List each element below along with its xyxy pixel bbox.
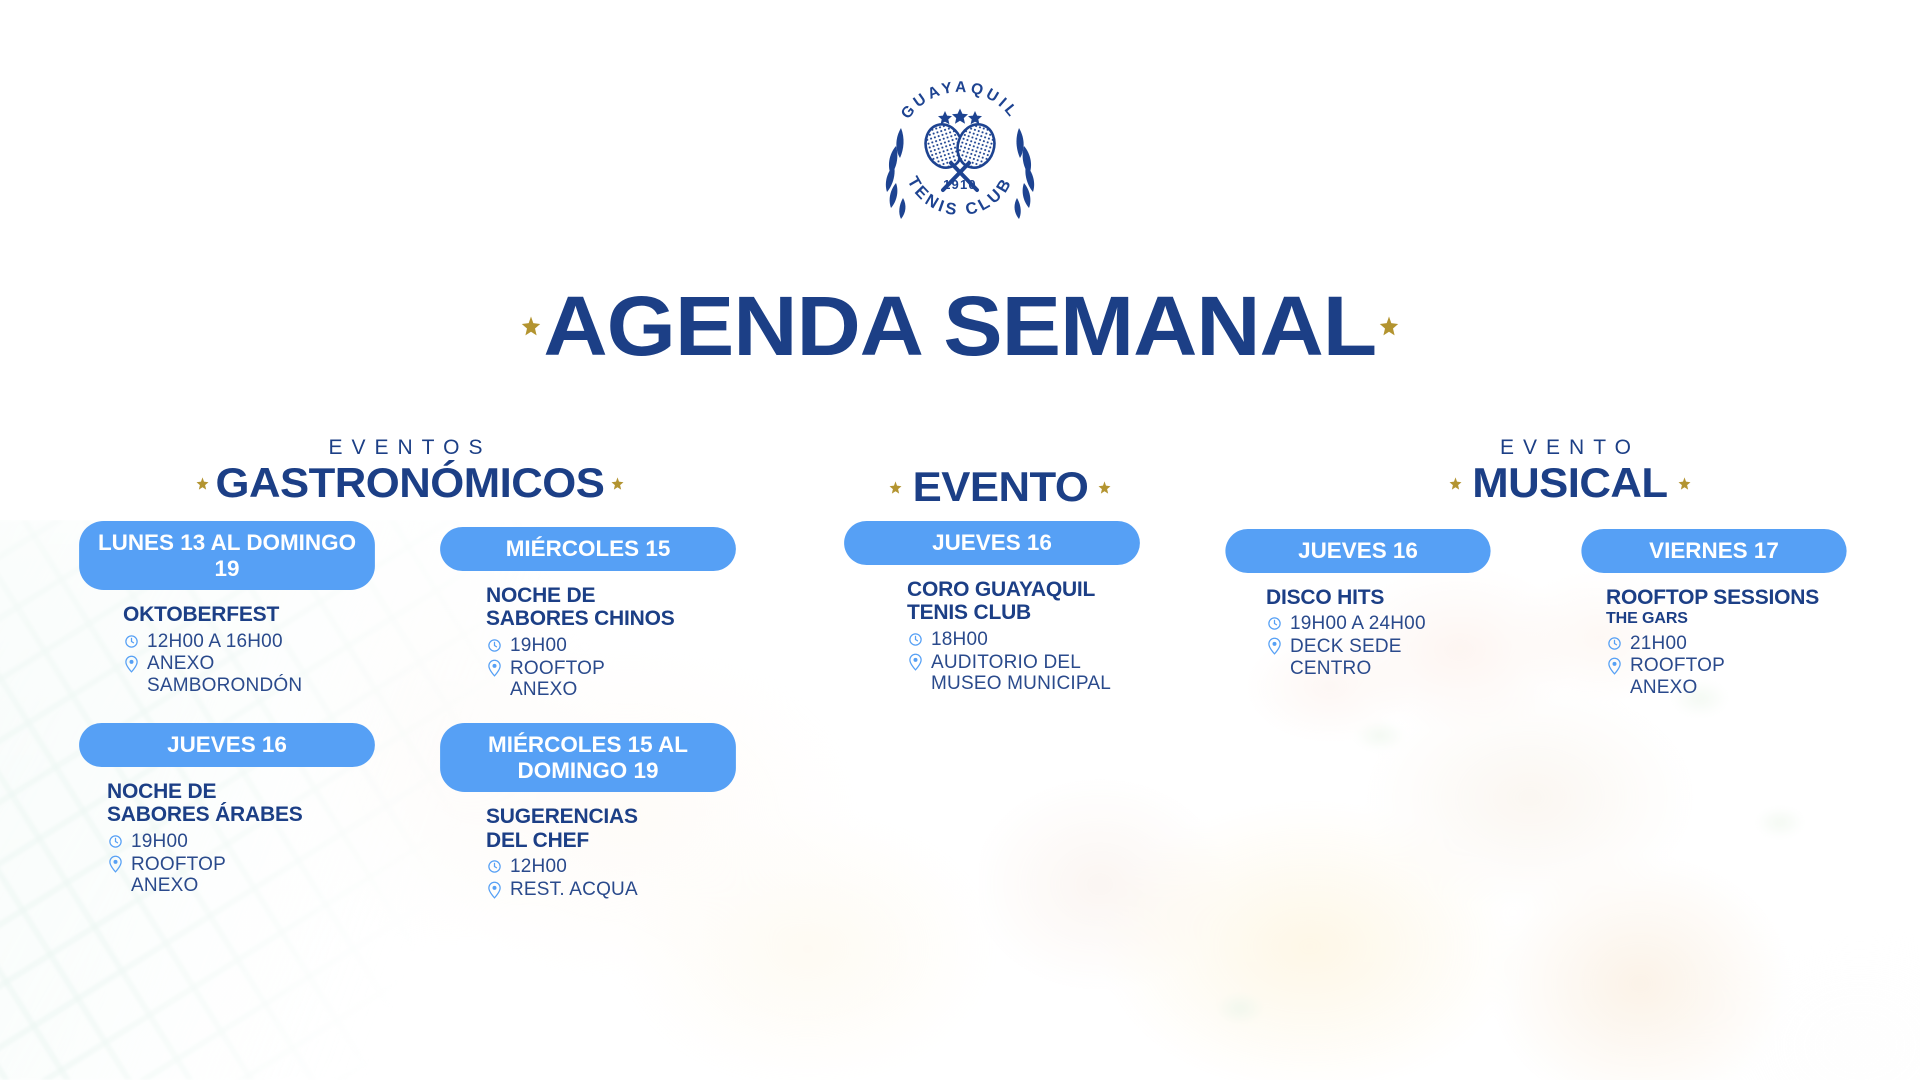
location-pin-icon xyxy=(486,879,503,900)
event-time: 19H00 A 24H00 xyxy=(1290,613,1426,635)
event-time-row: 12H00 A 16H00 xyxy=(123,631,372,653)
star-icon xyxy=(1098,481,1111,494)
event-place-row: ROOFTOP ANEXO xyxy=(1606,655,1844,698)
event-card[interactable]: JUEVES 16 NOCHE DE SABORES ÁRABES 19H00 … xyxy=(82,723,372,897)
clock-icon xyxy=(486,856,503,877)
event-place-row: REST. ACQUA xyxy=(486,879,733,901)
event-time: 12H00 A 16H00 xyxy=(147,631,283,653)
event-place: DECK SEDE CENTRO xyxy=(1290,636,1402,679)
section-kicker: EVENTOS xyxy=(100,436,720,460)
section-header-gastronomicos: EVENTOS GASTRONÓMICOS xyxy=(100,436,720,504)
page-title: AGENDA SEMANAL xyxy=(544,284,1377,368)
event-time-row: 21H00 xyxy=(1606,633,1844,655)
section-kicker: EVENTO xyxy=(1425,436,1715,460)
clock-icon xyxy=(1266,613,1283,634)
event-title: NOCHE DE SABORES CHINOS xyxy=(486,584,733,631)
event-place: ANEXO SAMBORONDÓN xyxy=(147,653,372,696)
clock-icon xyxy=(907,629,924,650)
svg-text:1910: 1910 xyxy=(943,177,977,192)
event-place-row: ROOFTOP ANEXO xyxy=(107,854,372,897)
event-place: AUDITORIO DEL MUSEO MUNICIPAL xyxy=(931,652,1111,695)
club-logo: GUAYAQUIL TENIS CLUB 1910 xyxy=(865,62,1055,222)
star-icon xyxy=(196,477,209,490)
event-date-badge[interactable]: JUEVES 16 xyxy=(1225,529,1490,573)
event-meta: 19H00 A 24H00 DECK SEDE CENTRO xyxy=(1266,613,1488,679)
event-card[interactable]: LUNES 13 AL DOMINGO 19 OKTOBERFEST 12H00… xyxy=(82,521,372,697)
location-pin-icon xyxy=(1606,655,1623,676)
event-place: ROOFTOP ANEXO xyxy=(1630,655,1725,698)
event-meta: 12H00 REST. ACQUA xyxy=(486,856,733,900)
star-icon xyxy=(521,316,541,336)
event-title: OKTOBERFEST xyxy=(123,603,372,627)
event-card[interactable]: MIÉRCOLES 15 NOCHE DE SABORES CHINOS 19H… xyxy=(443,527,733,701)
event-title: CORO GUAYAQUIL TENIS CLUB xyxy=(907,578,1137,625)
section-header-musical: EVENTO MUSICAL xyxy=(1425,436,1715,504)
event-card[interactable]: JUEVES 16 DISCO HITS 19H00 A 24H00 DECK … xyxy=(1228,529,1488,679)
event-time: 21H00 xyxy=(1630,633,1687,655)
location-pin-icon xyxy=(907,652,924,673)
event-date-badge[interactable]: JUEVES 16 xyxy=(79,723,375,767)
event-meta: 12H00 A 16H00 ANEXO SAMBORONDÓN xyxy=(123,631,372,697)
event-place: ROOFTOP ANEXO xyxy=(510,658,605,701)
event-title: NOCHE DE SABORES ÁRABES xyxy=(107,780,372,827)
event-card[interactable]: JUEVES 16 CORO GUAYAQUIL TENIS CLUB 18H0… xyxy=(847,521,1137,695)
section-header-evento: EVENTO xyxy=(830,466,1170,508)
section-title: EVENTO xyxy=(912,466,1088,508)
event-meta: 19H00 ROOFTOP ANEXO xyxy=(486,635,733,701)
event-place-row: ANEXO SAMBORONDÓN xyxy=(123,653,372,696)
location-pin-icon xyxy=(486,658,503,679)
page-title-row: AGENDA SEMANAL xyxy=(0,228,1920,425)
clock-icon xyxy=(107,831,124,852)
event-time-row: 12H00 xyxy=(486,856,733,878)
clock-icon xyxy=(123,631,140,652)
event-time-row: 19H00 A 24H00 xyxy=(1266,613,1488,635)
event-place-row: DECK SEDE CENTRO xyxy=(1266,636,1488,679)
event-date-badge[interactable]: VIERNES 17 xyxy=(1581,529,1846,573)
event-place-row: ROOFTOP ANEXO xyxy=(486,658,733,701)
star-icon xyxy=(611,477,624,490)
event-time-row: 19H00 xyxy=(486,635,733,657)
event-place: REST. ACQUA xyxy=(510,879,638,901)
star-icon xyxy=(1678,477,1691,490)
clock-icon xyxy=(1606,633,1623,654)
star-icon xyxy=(1379,316,1399,336)
event-meta: 18H00 AUDITORIO DEL MUSEO MUNICIPAL xyxy=(907,629,1137,695)
event-date-badge[interactable]: LUNES 13 AL DOMINGO 19 xyxy=(79,521,375,590)
event-time-row: 18H00 xyxy=(907,629,1137,651)
event-card[interactable]: MIÉRCOLES 15 AL DOMINGO 19 SUGERENCIAS D… xyxy=(443,723,733,901)
event-time: 12H00 xyxy=(510,856,567,878)
event-date-badge[interactable]: JUEVES 16 xyxy=(844,521,1140,565)
event-card[interactable]: VIERNES 17 ROOFTOP SESSIONS THE GARS 21H… xyxy=(1584,529,1844,699)
location-pin-icon xyxy=(107,854,124,875)
event-time: 19H00 xyxy=(510,635,567,657)
event-meta: 19H00 ROOFTOP ANEXO xyxy=(107,831,372,897)
event-title: ROOFTOP SESSIONS xyxy=(1606,586,1844,610)
event-subtitle: THE GARS xyxy=(1606,610,1844,628)
event-time-row: 19H00 xyxy=(107,831,372,853)
star-icon xyxy=(1449,477,1462,490)
event-time: 19H00 xyxy=(131,831,188,853)
clock-icon xyxy=(486,635,503,656)
event-title: SUGERENCIAS DEL CHEF xyxy=(486,805,733,852)
section-title: MUSICAL xyxy=(1472,462,1667,504)
location-pin-icon xyxy=(1266,636,1283,657)
star-icon xyxy=(889,481,902,494)
event-title: DISCO HITS xyxy=(1266,586,1488,610)
event-time: 18H00 xyxy=(931,629,988,651)
event-meta: 21H00 ROOFTOP ANEXO xyxy=(1606,633,1844,699)
event-place: ROOFTOP ANEXO xyxy=(131,854,226,897)
section-title: GASTRONÓMICOS xyxy=(216,462,605,504)
event-place-row: AUDITORIO DEL MUSEO MUNICIPAL xyxy=(907,652,1137,695)
event-date-badge[interactable]: MIÉRCOLES 15 AL DOMINGO 19 xyxy=(440,723,736,792)
event-date-badge[interactable]: MIÉRCOLES 15 xyxy=(440,527,736,571)
location-pin-icon xyxy=(123,653,140,674)
